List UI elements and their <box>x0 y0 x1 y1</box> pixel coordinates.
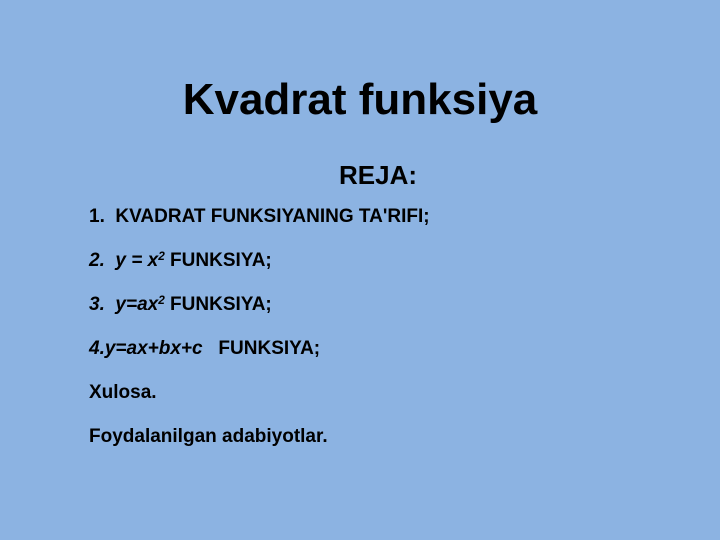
list-item-gap <box>105 206 116 227</box>
list-item-label: KVADRAT FUNKSIYANING TA'RIFI; <box>115 206 429 227</box>
agenda-heading: REJA: <box>72 160 672 191</box>
list-item-label: FUNKSIYA; <box>165 250 272 271</box>
list-item-formula: y = x2 <box>115 250 164 271</box>
presentation-slide: Kvadrat funksiya REJA: 1. KVADRAT FUNKSI… <box>0 0 720 540</box>
list-item-marker: 4. <box>89 338 105 359</box>
list-item: Xulosa. <box>72 383 672 402</box>
agenda-list: 1. KVADRAT FUNKSIYANING TA'RIFI;2. y = x… <box>72 207 672 446</box>
list-item: Foydalanilgan adabiyotlar. <box>72 427 672 446</box>
list-item-marker: 3. <box>89 294 105 315</box>
list-item-label: FUNKSIYA; <box>165 294 272 315</box>
list-item-label: FUNKSIYA; <box>203 338 321 359</box>
page-title: Kvadrat funksiya <box>0 76 720 124</box>
list-item-marker: 2. <box>89 250 105 271</box>
slide-body: REJA: 1. KVADRAT FUNKSIYANING TA'RIFI;2.… <box>72 160 672 446</box>
list-item: 1. KVADRAT FUNKSIYANING TA'RIFI; <box>72 207 672 226</box>
list-item: 3. y=ax2 FUNKSIYA; <box>72 295 672 314</box>
list-item-label: Xulosa. <box>89 382 157 403</box>
list-item-gap <box>105 250 116 271</box>
list-item-label: Foydalanilgan adabiyotlar. <box>89 426 328 447</box>
list-item-formula: y=ax2 <box>115 294 164 315</box>
list-item-gap <box>105 294 116 315</box>
list-item: 4.y=ax+bx+c FUNKSIYA; <box>72 339 672 358</box>
list-item: 2. y = x2 FUNKSIYA; <box>72 251 672 270</box>
list-item-marker: 1. <box>89 206 105 227</box>
list-item-formula: y=ax+bx+c <box>105 338 203 359</box>
